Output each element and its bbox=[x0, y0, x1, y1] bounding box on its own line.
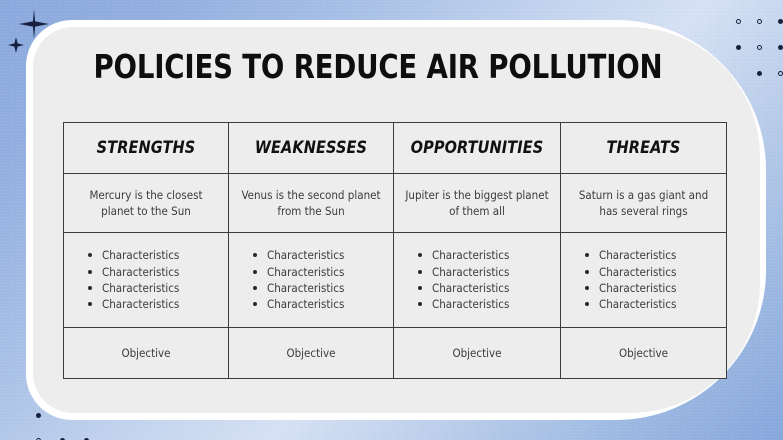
list-item: Characteristics bbox=[583, 296, 726, 312]
dot-hollow-icon bbox=[757, 45, 762, 50]
dot-cell bbox=[749, 8, 770, 34]
list-item: Characteristics bbox=[251, 296, 393, 312]
dot-filled-icon bbox=[778, 45, 783, 50]
column-header-label: WEAKNESSES bbox=[233, 138, 389, 158]
list-item: Characteristics bbox=[583, 247, 726, 263]
table-row-descriptions: Mercury is the closest planet to the Sun… bbox=[64, 174, 727, 233]
table-row-objectives: Objective Objective Objective Objective bbox=[64, 328, 727, 379]
column-header-label: OPPORTUNITIES bbox=[398, 138, 556, 158]
dot-cell bbox=[26, 428, 50, 440]
table-cell-objective-weaknesses: Objective bbox=[229, 328, 394, 379]
characteristics-list: CharacteristicsCharacteristicsCharacteri… bbox=[561, 243, 726, 316]
list-item: Characteristics bbox=[583, 264, 726, 280]
column-header-label: STRENGTHS bbox=[68, 138, 224, 158]
description-text: Jupiter is the biggest planet of them al… bbox=[394, 187, 560, 220]
dot-cell bbox=[50, 428, 74, 440]
table-cell-objective-threats: Objective bbox=[561, 328, 727, 379]
table-cell-bullets-weaknesses: CharacteristicsCharacteristicsCharacteri… bbox=[229, 233, 394, 328]
table-cell-header-weaknesses: WEAKNESSES bbox=[229, 123, 394, 174]
dot-filled-icon bbox=[36, 413, 41, 418]
dot-hollow-icon bbox=[736, 19, 741, 24]
characteristics-list: CharacteristicsCharacteristicsCharacteri… bbox=[229, 243, 393, 316]
objective-text: Objective bbox=[229, 346, 393, 360]
table-cell-header-strengths: STRENGTHS bbox=[64, 123, 229, 174]
table-cell-objective-opportunities: Objective bbox=[394, 328, 561, 379]
dot-cell bbox=[728, 8, 749, 34]
objective-text: Objective bbox=[394, 346, 560, 360]
list-item: Characteristics bbox=[251, 264, 393, 280]
table-cell-bullets-opportunities: CharacteristicsCharacteristicsCharacteri… bbox=[394, 233, 561, 328]
table-cell-description-strengths: Mercury is the closest planet to the Sun bbox=[64, 174, 229, 233]
dot-cell bbox=[770, 34, 783, 60]
dot-filled-icon bbox=[778, 19, 783, 24]
list-item: Characteristics bbox=[416, 296, 560, 312]
list-item: Characteristics bbox=[86, 280, 228, 296]
list-item: Characteristics bbox=[86, 247, 228, 263]
characteristics-list: CharacteristicsCharacteristicsCharacteri… bbox=[394, 243, 560, 316]
list-item: Characteristics bbox=[583, 280, 726, 296]
diamond-sparkle-icon bbox=[8, 37, 24, 58]
dot-placeholder bbox=[736, 71, 741, 76]
table-cell-objective-strengths: Objective bbox=[64, 328, 229, 379]
dot-filled-icon bbox=[736, 45, 741, 50]
table-cell-description-threats: Saturn is a gas giant and has several ri… bbox=[561, 174, 727, 233]
swot-table: STRENGTHS WEAKNESSES OPPORTUNITIES THREA… bbox=[63, 122, 727, 379]
objective-text: Objective bbox=[561, 346, 726, 360]
table-cell-description-weaknesses: Venus is the second planet from the Sun bbox=[229, 174, 394, 233]
table-row-bullets: CharacteristicsCharacteristicsCharacteri… bbox=[64, 233, 727, 328]
dot-cell bbox=[770, 60, 783, 86]
list-item: Characteristics bbox=[416, 280, 560, 296]
slide-canvas: POLICIES TO REDUCE AIR POLLUTION STRENGT… bbox=[0, 0, 783, 440]
objective-text: Objective bbox=[64, 346, 228, 360]
description-text: Saturn is a gas giant and has several ri… bbox=[561, 187, 726, 220]
characteristics-list: CharacteristicsCharacteristicsCharacteri… bbox=[64, 243, 228, 316]
table-cell-header-threats: THREATS bbox=[561, 123, 727, 174]
column-header-label: THREATS bbox=[565, 138, 722, 158]
list-item: Characteristics bbox=[416, 247, 560, 263]
list-item: Characteristics bbox=[251, 247, 393, 263]
table-cell-header-opportunities: OPPORTUNITIES bbox=[394, 123, 561, 174]
list-item: Characteristics bbox=[86, 296, 228, 312]
table-row-headers: STRENGTHS WEAKNESSES OPPORTUNITIES THREA… bbox=[64, 123, 727, 174]
table-cell-description-opportunities: Jupiter is the biggest planet of them al… bbox=[394, 174, 561, 233]
list-item: Characteristics bbox=[251, 280, 393, 296]
description-text: Mercury is the closest planet to the Sun bbox=[64, 187, 228, 220]
table-cell-bullets-threats: CharacteristicsCharacteristicsCharacteri… bbox=[561, 233, 727, 328]
list-item: Characteristics bbox=[416, 264, 560, 280]
dot-cell bbox=[749, 60, 770, 86]
dot-cell bbox=[74, 428, 98, 440]
dot-cell bbox=[728, 34, 749, 60]
dot-hollow-icon bbox=[778, 71, 783, 76]
description-text: Venus is the second planet from the Sun bbox=[229, 187, 393, 220]
dot-grid-top-right bbox=[728, 8, 783, 86]
dot-filled-icon bbox=[757, 71, 762, 76]
table-cell-bullets-strengths: CharacteristicsCharacteristicsCharacteri… bbox=[64, 233, 229, 328]
dot-cell bbox=[749, 34, 770, 60]
dot-hollow-icon bbox=[757, 19, 762, 24]
dot-cell bbox=[770, 8, 783, 34]
list-item: Characteristics bbox=[86, 264, 228, 280]
page-title: POLICIES TO REDUCE AIR POLLUTION bbox=[57, 47, 699, 86]
